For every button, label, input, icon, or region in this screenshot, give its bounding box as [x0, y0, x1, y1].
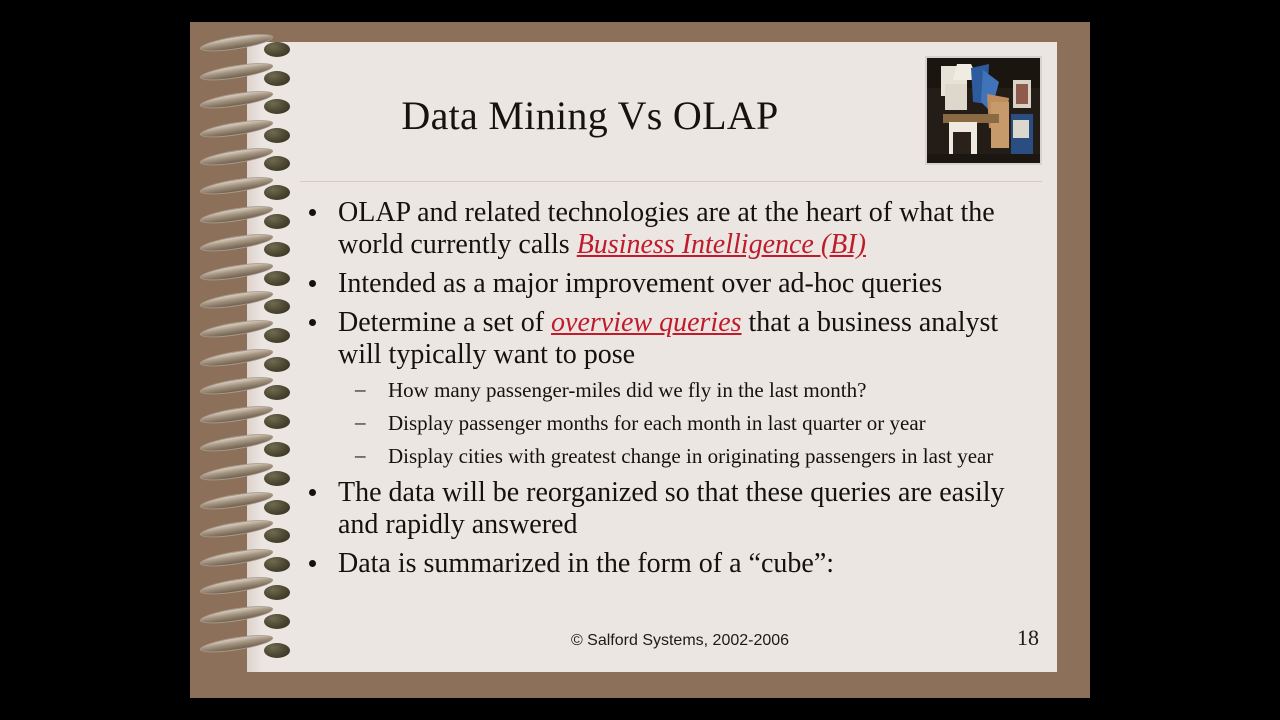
sub-bullet-dash-icon: – [355, 410, 366, 434]
bullet-item: Data is summarized in the form of a “cub… [300, 548, 1040, 580]
sub-bullet-dash-icon: – [355, 443, 366, 467]
bullet-item: Determine a set of overview queries that… [300, 307, 1040, 371]
binding-ring-bead [264, 214, 290, 229]
binding-ring-bead [264, 357, 290, 372]
binding-ring-bead [264, 71, 290, 86]
bullet-text: Display cities with greatest change in o… [388, 444, 993, 468]
binding-ring-bead [264, 42, 290, 57]
page-number: 18 [1010, 625, 1046, 651]
binding-ring-bead [264, 557, 290, 572]
bullet-item: Intended as a major improvement over ad-… [300, 268, 1040, 300]
bullet-text: Data is summarized in the form of a “cub… [338, 548, 834, 579]
binding-ring-bead [264, 414, 290, 429]
bullet-dot-icon [309, 319, 316, 326]
bullet-dot-icon [309, 489, 316, 496]
thumbnail-artwork [927, 58, 1040, 163]
page-title: Data Mining Vs OLAP [280, 92, 900, 139]
binding-ring-bead [264, 643, 290, 658]
highlighted-term: Business Intelligence (BI) [577, 229, 866, 260]
bullet-list: OLAP and related technologies are at the… [300, 197, 1040, 587]
bullet-text: Intended as a major improvement over ad-… [338, 268, 942, 299]
bullet-item: OLAP and related technologies are at the… [300, 197, 1040, 261]
bullet-dot-icon [309, 280, 316, 287]
bullet-text: Determine a set of [338, 307, 551, 338]
sub-bullet-item: –Display passenger months for each month… [300, 411, 1040, 435]
sub-bullet-item: –How many passenger-miles did we fly in … [300, 378, 1040, 402]
binding-ring-bead [264, 328, 290, 343]
sub-bullet-dash-icon: – [355, 377, 366, 401]
bullet-dot-icon [309, 560, 316, 567]
bullet-text: The data will be reorganized so that the… [338, 477, 1005, 540]
binding-ring-bead [264, 185, 290, 200]
bullet-item: The data will be reorganized so that the… [300, 477, 1040, 541]
bullet-text: How many passenger-miles did we fly in t… [388, 378, 866, 402]
binding-ring-bead [264, 500, 290, 515]
bullet-dot-icon [309, 209, 316, 216]
slide-viewer: Data Mining Vs OLAP OLAP and related tec… [0, 0, 1280, 720]
copyright-notice: © Salford Systems, 2002-2006 [380, 632, 980, 650]
binding-ring-bead [264, 471, 290, 486]
highlighted-term: overview queries [551, 307, 742, 338]
binding-ring-bead [264, 271, 290, 286]
binding-ring-bead [264, 614, 290, 629]
title-divider [300, 181, 1042, 182]
cubist-painting-thumbnail [925, 56, 1042, 165]
sub-bullet-item: –Display cities with greatest change in … [300, 444, 1040, 468]
bullet-text: Display passenger months for each month … [388, 411, 926, 435]
